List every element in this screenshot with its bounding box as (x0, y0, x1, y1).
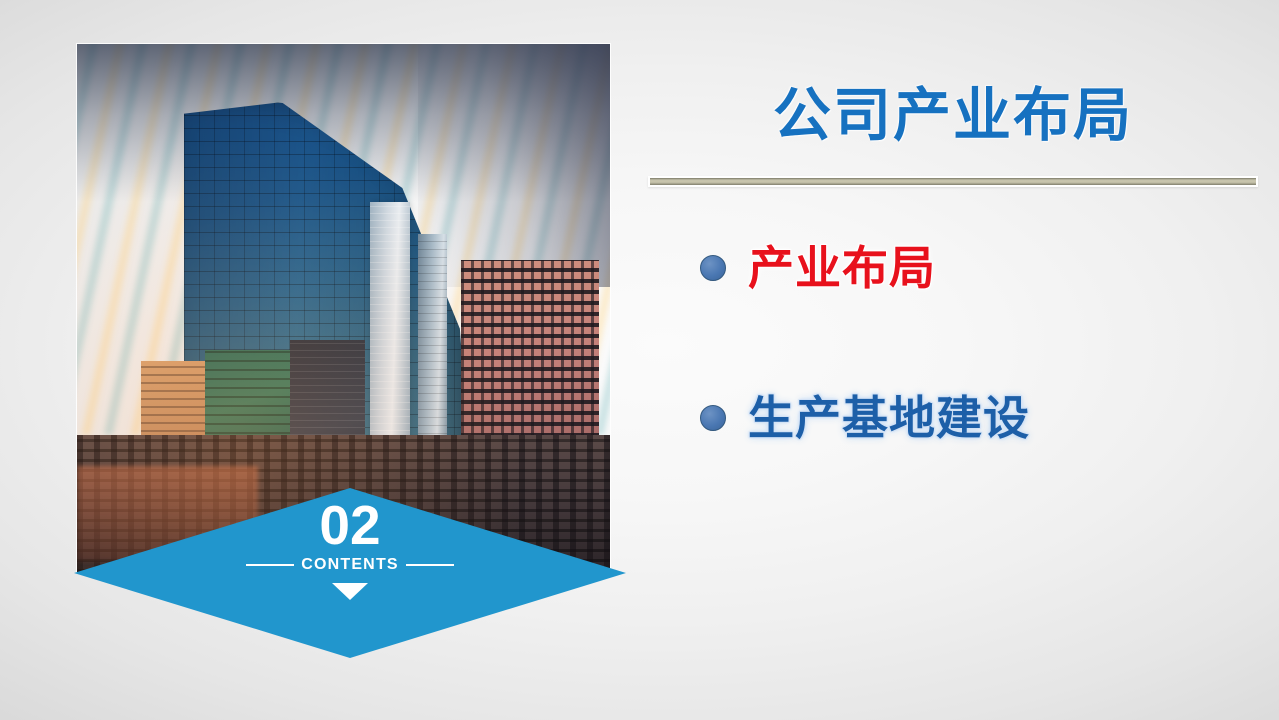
page-title: 公司产业布局 (648, 68, 1258, 152)
glass-tower-slim-2 (418, 234, 447, 466)
contents-label: CONTENTS (301, 556, 399, 574)
diamond-content: 02 CONTENTS (74, 488, 626, 658)
agenda-item-label-1: 产业布局 (748, 243, 936, 294)
agenda-item-label-2: 生产基地建设 (748, 393, 1030, 444)
list-item[interactable]: 生产基地建设 (700, 386, 1260, 450)
agenda-list: 产业布局 生产基地建设 (700, 236, 1260, 450)
presentation-slide: 02 CONTENTS 公司产业布局 产业布局 生产基地建设 (0, 0, 1279, 720)
title-divider (648, 176, 1258, 187)
glass-tower-slim (370, 202, 410, 466)
section-number: 02 (319, 498, 380, 553)
contents-rule-right (406, 564, 454, 566)
list-item[interactable]: 产业布局 (700, 236, 1260, 300)
down-triangle-icon (332, 583, 368, 600)
title-divider-bar (650, 178, 1256, 185)
contents-rule-left (246, 564, 294, 566)
bullet-dot-1 (700, 255, 726, 281)
section-badge-diamond: 02 CONTENTS (74, 488, 626, 658)
contents-row: CONTENTS (246, 556, 454, 574)
bullet-dot-2 (700, 405, 726, 431)
